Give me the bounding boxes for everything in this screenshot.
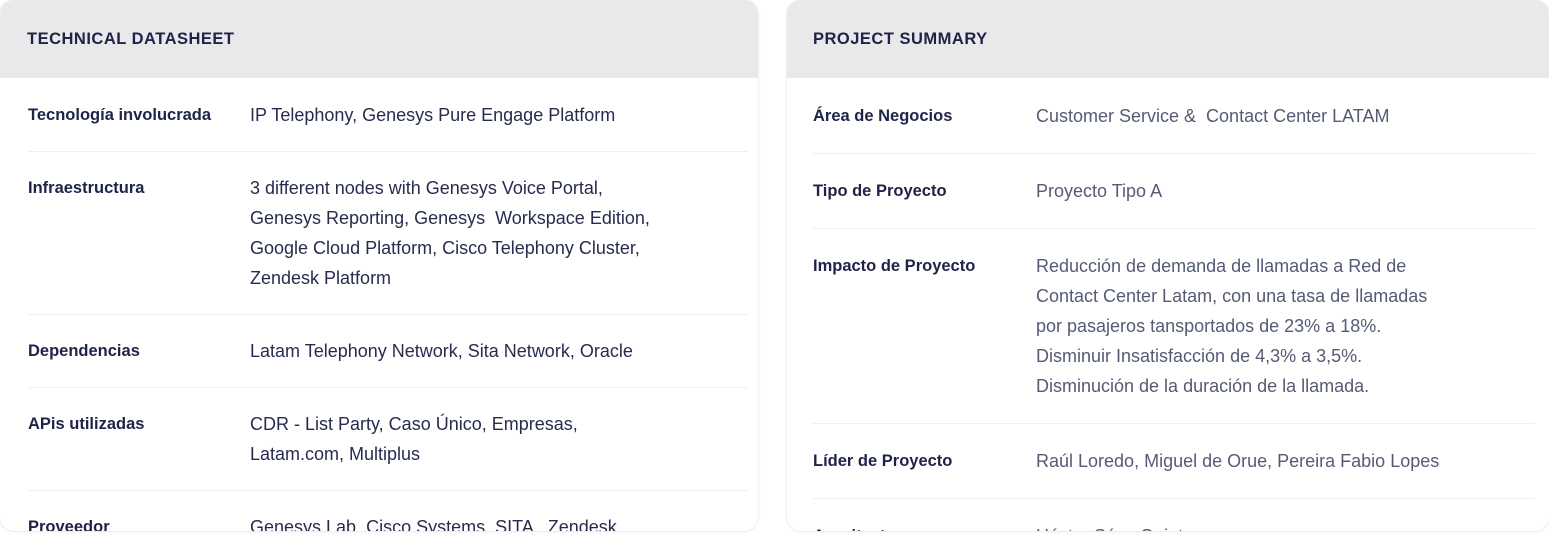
page-root: TECHNICAL DATASHEET Tecnología involucra… xyxy=(0,0,1549,540)
table-row: Impacto de Proyecto Reducción de demanda… xyxy=(787,228,1549,423)
row-label: Impacto de Proyecto xyxy=(787,251,1036,281)
table-row: Área de Negocios Customer Service & Cont… xyxy=(787,78,1549,153)
row-label: Arquitecto xyxy=(787,521,1036,531)
row-value: Customer Service & Contact Center LATAM xyxy=(1036,101,1549,131)
row-value: Latam Telephony Network, Sita Network, O… xyxy=(250,336,758,366)
technical-datasheet-card: TECHNICAL DATASHEET Tecnología involucra… xyxy=(0,0,758,531)
table-row: Tipo de Proyecto Proyecto Tipo A xyxy=(787,153,1549,228)
table-row: Arquitecto Héctor Sáez Quinteros xyxy=(787,498,1549,531)
table-row: Tecnología involucrada IP Telephony, Gen… xyxy=(0,78,758,151)
row-value: Proyecto Tipo A xyxy=(1036,176,1549,206)
row-label: APis utilizadas xyxy=(0,409,250,439)
technical-datasheet-title: TECHNICAL DATASHEET xyxy=(27,30,235,49)
row-label: Dependencias xyxy=(0,336,250,366)
table-row: Dependencias Latam Telephony Network, Si… xyxy=(0,314,758,387)
table-row: Infraestructura 3 different nodes with G… xyxy=(0,151,758,314)
table-row: APis utilizadas CDR - List Party, Caso Ú… xyxy=(0,387,758,490)
project-summary-card: PROJECT SUMMARY Área de Negocios Custome… xyxy=(787,0,1549,531)
row-value: Raúl Loredo, Miguel de Orue, Pereira Fab… xyxy=(1036,446,1549,476)
table-row: Proveedor Genesys Lab. Cisco Systems, SI… xyxy=(0,490,758,531)
row-label: Área de Negocios xyxy=(787,101,1036,131)
project-summary-body: Área de Negocios Customer Service & Cont… xyxy=(787,78,1549,531)
row-value: Héctor Sáez Quinteros xyxy=(1036,521,1549,531)
row-label: Líder de Proyecto xyxy=(787,446,1036,476)
row-value: IP Telephony, Genesys Pure Engage Platfo… xyxy=(250,100,758,130)
row-label: Tecnología involucrada xyxy=(0,100,250,130)
row-value: Reducción de demanda de llamadas a Red d… xyxy=(1036,251,1549,401)
row-label: Tipo de Proyecto xyxy=(787,176,1036,206)
technical-datasheet-rows: Tecnología involucrada IP Telephony, Gen… xyxy=(0,78,758,531)
project-summary-header: PROJECT SUMMARY xyxy=(787,0,1549,78)
row-label: Proveedor xyxy=(0,512,250,531)
table-row: Líder de Proyecto Raúl Loredo, Miguel de… xyxy=(787,423,1549,498)
project-summary-rows: Área de Negocios Customer Service & Cont… xyxy=(787,78,1549,531)
technical-datasheet-header: TECHNICAL DATASHEET xyxy=(0,0,758,78)
row-value: Genesys Lab. Cisco Systems, SITA , Zende… xyxy=(250,512,758,531)
project-summary-title: PROJECT SUMMARY xyxy=(813,30,988,49)
row-value: 3 different nodes with Genesys Voice Por… xyxy=(250,173,758,293)
row-label: Infraestructura xyxy=(0,173,250,203)
row-value: CDR - List Party, Caso Único, Empresas, … xyxy=(250,409,758,469)
technical-datasheet-body: Tecnología involucrada IP Telephony, Gen… xyxy=(0,78,758,531)
